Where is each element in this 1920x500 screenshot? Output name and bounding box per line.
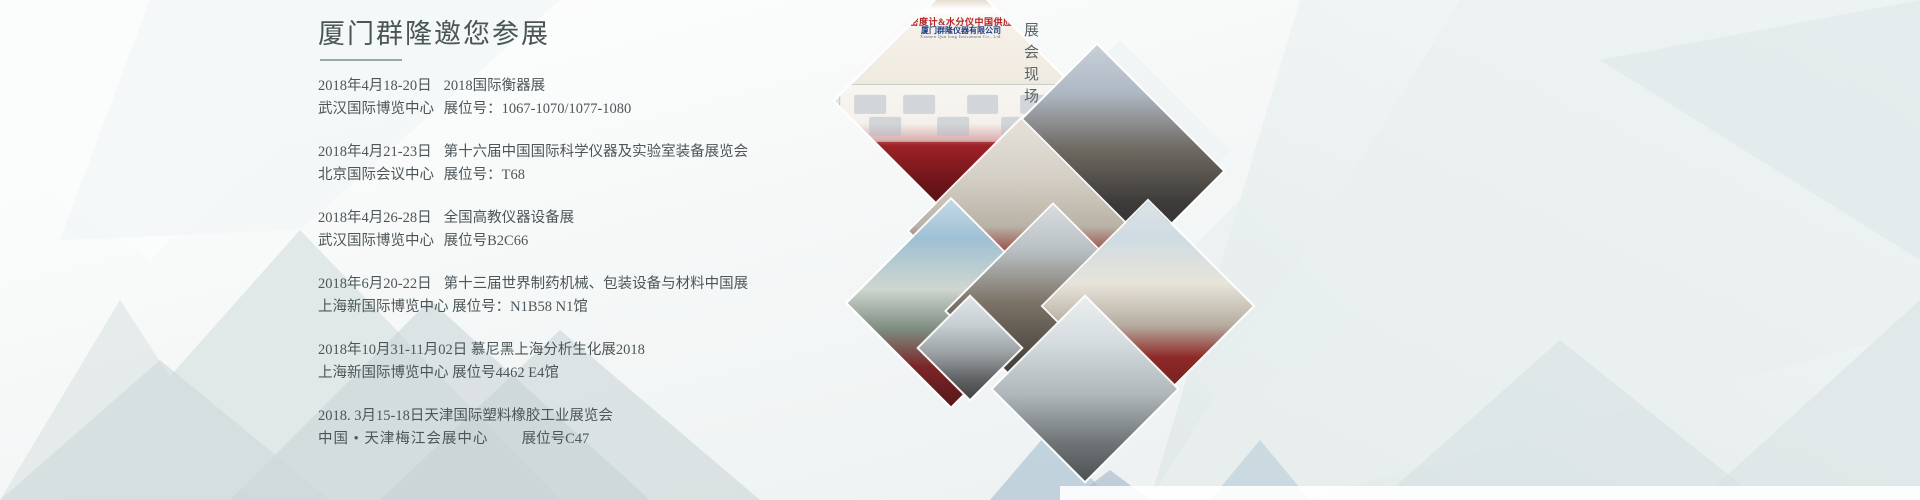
event-item-3: 2018年4月26-28日 全国高教仪器设备展 武汉国际博览中心 展位号B2C6… <box>318 207 838 254</box>
event-item-4: 2018年6月20-22日 第十三届世界制药机械、包装设备与材料中国展 上海新国… <box>318 273 838 320</box>
event-4-bottom: 上海新国际博览中心 展位号：N1B58 N1馆 <box>318 296 838 319</box>
event-6-top: 2018. 3月15-18日天津国际塑料橡胶工业展览会 <box>318 405 838 428</box>
event-6-booth: 展位号C47 <box>522 428 590 451</box>
event-5-top: 2018年10月31-11月02日 慕尼黑上海分析生化展2018 <box>318 339 838 362</box>
event-2-date: 2018年4月21-23日 <box>318 141 440 164</box>
shelf-cell <box>967 95 999 114</box>
event-5-date: 2018年10月31-11月02日 <box>318 339 467 362</box>
promo-banner: 厦门群隆邀您参展 2018年4月18-20日 2018国际衡器展 武汉国际博览中… <box>0 0 1920 500</box>
event-4-venue: 上海新国际博览中心 <box>318 296 449 319</box>
shelf-cell <box>938 118 970 137</box>
event-1-date: 2018年4月18-20日 <box>318 75 440 98</box>
event-item-6: 2018. 3月15-18日天津国际塑料橡胶工业展览会 中国 • 天津梅江会展中… <box>318 405 838 452</box>
event-1-bottom: 武汉国际博览中心 展位号：1067-1070/1077-1080 <box>318 98 838 121</box>
event-3-booth: 展位号B2C66 <box>444 230 529 253</box>
event-5-name: 慕尼黑上海分析生化展2018 <box>471 339 645 362</box>
event-4-top: 2018年6月20-22日 第十三届世界制药机械、包装设备与材料中国展 <box>318 273 838 296</box>
event-4-name: 第十三届世界制药机械、包装设备与材料中国展 <box>444 273 749 296</box>
event-2-bottom: 北京国际会议中心 展位号：T68 <box>318 164 838 187</box>
event-3-bottom: 武汉国际博览中心 展位号B2C66 <box>318 230 838 253</box>
event-2-name: 第十六届中国国际科学仪器及实验室装备展览会 <box>444 141 749 164</box>
vertical-caption: 展会现场 <box>1020 22 1041 110</box>
event-item-1: 2018年4月18-20日 2018国际衡器展 武汉国际博览中心 展位号：106… <box>318 75 838 122</box>
event-1-venue: 武汉国际博览中心 <box>318 98 440 121</box>
event-4-date: 2018年6月20-22日 <box>318 273 440 296</box>
event-3-top: 2018年4月26-28日 全国高教仪器设备展 <box>318 207 838 230</box>
event-item-2: 2018年4月21-23日 第十六届中国国际科学仪器及实验室装备展览会 北京国际… <box>318 141 838 188</box>
shelf-cell <box>903 95 935 114</box>
event-item-5: 2018年10月31-11月02日 慕尼黑上海分析生化展2018 上海新国际博览… <box>318 339 838 386</box>
event-2-booth: 展位号：T68 <box>444 164 525 187</box>
event-1-top: 2018年4月18-20日 2018国际衡器展 <box>318 75 838 98</box>
event-1-booth: 展位号：1067-1070/1077-1080 <box>444 98 632 121</box>
booth-banner-line3: Xiamen Qun long Instrument Co., Ltd. <box>835 36 1087 41</box>
event-1-name: 2018国际衡器展 <box>444 75 546 98</box>
event-3-venue: 武汉国际博览中心 <box>318 230 440 253</box>
page-title: 厦门群隆邀您参展 <box>318 18 838 52</box>
booth-banner: 密度计&水分仪中国供应 厦门群隆仪器有限公司 Xiamen Qun long I… <box>835 18 1087 41</box>
event-4-booth: 展位号：N1B58 N1馆 <box>452 296 588 319</box>
event-list-panel: 厦门群隆邀您参展 2018年4月18-20日 2018国际衡器展 武汉国际博览中… <box>318 18 838 471</box>
event-3-name: 全国高教仪器设备展 <box>444 207 575 230</box>
event-6-venue: 中国 • 天津梅江会展中心 <box>318 428 518 451</box>
shelf-cell <box>869 118 901 137</box>
event-2-venue: 北京国际会议中心 <box>318 164 440 187</box>
event-5-bottom: 上海新国际博览中心 展位号4462 E4馆 <box>318 362 838 385</box>
title-underline <box>320 59 402 61</box>
event-2-top: 2018年4月21-23日 第十六届中国国际科学仪器及实验室装备展览会 <box>318 141 838 164</box>
shelf-cell <box>854 95 886 114</box>
event-5-venue: 上海新国际博览中心 <box>318 362 449 385</box>
event-6-date: 2018. 3月15-18日天津国际塑料橡胶工业展览会 <box>318 405 613 428</box>
event-6-bottom: 中国 • 天津梅江会展中心 展位号C47 <box>318 428 838 451</box>
event-5-booth: 展位号4462 E4馆 <box>452 362 559 385</box>
event-3-date: 2018年4月26-28日 <box>318 207 440 230</box>
